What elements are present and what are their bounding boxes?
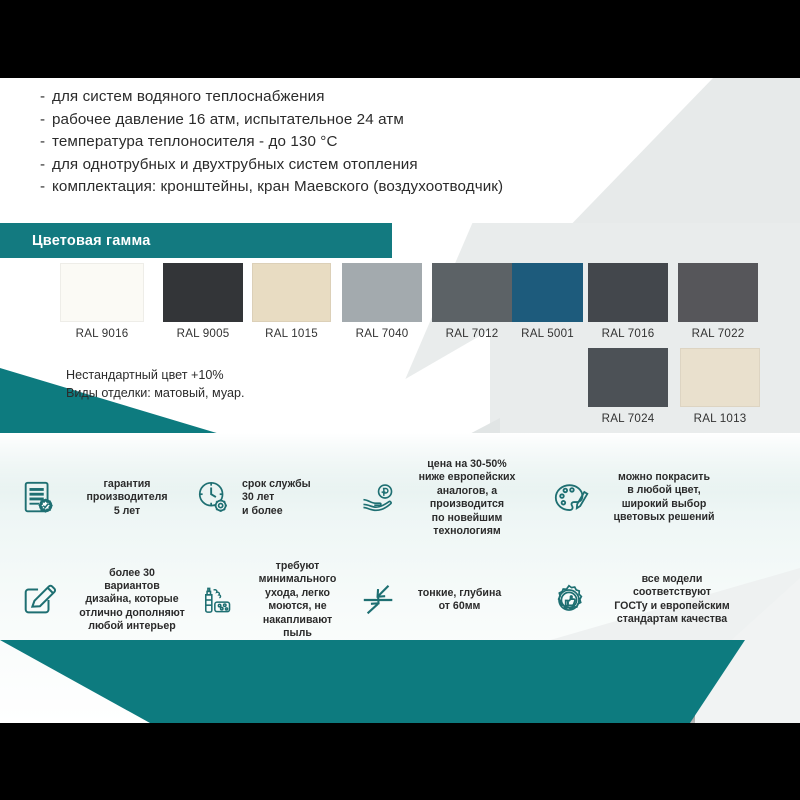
spec-item: -для однотрубных и двухтрубных систем от… [40,154,640,177]
benefit-item: тонкие, глубина от 60мм [360,581,512,619]
swatch-label: RAL 1015 [252,327,331,340]
swatch-chip[interactable] [678,263,758,322]
swatch-label: RAL 5001 [512,327,583,340]
benefit-item: можно покрасить в любой цвет, широкий вы… [552,471,729,525]
depth-arrows-icon [360,581,398,619]
spec-item-label: рабочее давление 16 атм, испытательное 2… [52,111,404,128]
spray-sponge-icon [198,581,236,619]
benefit-label: можно покрасить в любой цвет, широкий вы… [599,471,729,525]
hand-ruble-icon [360,479,398,517]
swatch-label: RAL 7016 [588,327,668,340]
color-gamma-title: Цветовая гамма [32,233,150,249]
palette-icon [552,479,590,517]
spec-item: -комплектация: кронштейны, кран Маевског… [40,176,640,199]
swatch-label: RAL 9016 [60,327,144,340]
swatch-ral-1015[interactable]: RAL 1015 [252,263,331,340]
slide-canvas: -для систем водяного теплоснабжения-рабо… [0,78,800,723]
swatch-label: RAL 7022 [678,327,758,340]
swatch-ral-7040[interactable]: RAL 7040 [342,263,422,340]
swatch-ral-9016[interactable]: RAL 9016 [60,263,144,340]
pencil-square-icon [20,581,58,619]
benefit-label: гарантия производителя 5 лет [67,478,187,518]
benefit-item: цена на 30-50% ниже европейских аналогов… [360,458,527,538]
letterbox-top [0,0,800,78]
swatch-row-primary: RAL 9016RAL 9005RAL 1015RAL 7040RAL 7012… [0,263,800,343]
benefit-item: требуют минимального ухода, легко моются… [198,560,350,640]
swatch-note: Нестандартный цвет +10% [66,366,245,384]
benefit-label: все модели соответствуют ГОСТу и европей… [597,573,747,627]
swatch-ral-7012[interactable]: RAL 7012 [432,263,512,340]
swatch-chip[interactable] [342,263,422,322]
specification-list: -для систем водяного теплоснабжения-рабо… [40,86,640,199]
swatch-ral-7024[interactable]: RAL 7024 [588,348,668,425]
swatch-chip[interactable] [163,263,243,322]
bullet-dash-icon: - [40,86,52,109]
swatch-ral-7022[interactable]: RAL 7022 [678,263,758,340]
spec-item: -для систем водяного теплоснабжения [40,86,640,109]
letterbox-bottom [0,723,800,800]
swatch-label: RAL 7040 [342,327,422,340]
swatch-ral-1013[interactable]: RAL 1013 [680,348,760,425]
benefit-label: более 30 вариантов дизайна, которые отли… [67,567,197,634]
bullet-dash-icon: - [40,154,52,177]
swatch-chip[interactable] [588,348,668,407]
clock-gear-icon [195,479,233,517]
swatch-chip[interactable] [512,263,583,322]
swatch-ral-9005[interactable]: RAL 9005 [163,263,243,340]
swatch-chip[interactable] [60,263,144,322]
spec-item-label: для однотрубных и двухтрубных систем ото… [52,156,418,173]
benefit-row-1: гарантия производителя 5 лет срок службы… [0,446,800,550]
swatch-label: RAL 7012 [432,327,512,340]
benefit-label: тонкие, глубина от 60мм [407,587,512,614]
swatch-chip[interactable] [432,263,512,322]
certificate-icon [20,479,58,517]
benefit-item: все модели соответствуют ГОСТу и европей… [550,573,747,627]
benefits-section: гарантия производителя 5 лет срок службы… [0,446,800,650]
color-gamma-header: Цветовая гамма [0,223,392,258]
swatch-label: RAL 9005 [163,327,243,340]
swatch-chip[interactable] [680,348,760,407]
bullet-dash-icon: - [40,176,52,199]
swatch-ral-7016[interactable]: RAL 7016 [588,263,668,340]
swatch-notes: Нестандартный цвет +10%Виды отделки: мат… [66,366,245,402]
benefit-label: цена на 30-50% ниже европейских аналогов… [407,458,527,538]
swatch-row-secondary: RAL 7024RAL 1013 [588,348,800,428]
spec-item: -рабочее давление 16 атм, испытательное … [40,109,640,132]
benefit-item: срок службы 30 лет и более [195,478,337,518]
bullet-dash-icon: - [40,109,52,132]
spec-item-label: комплектация: кронштейны, кран Маевского… [52,178,503,195]
bullet-dash-icon: - [40,131,52,154]
benefit-label: срок службы 30 лет и более [242,478,337,518]
swatch-chip[interactable] [588,263,668,322]
swatch-note: Виды отделки: матовый, муар. [66,384,245,402]
benefit-item: более 30 вариантов дизайна, которые отли… [20,567,197,634]
swatch-ral-5001[interactable]: RAL 5001 [512,263,583,340]
benefit-row-2: более 30 вариантов дизайна, которые отли… [0,550,800,650]
swatch-label: RAL 7024 [588,412,668,425]
spec-item-label: температура теплоносителя - до 130 °C [52,133,338,150]
spec-item-label: для систем водяного теплоснабжения [52,88,325,105]
quality-seal-icon [550,581,588,619]
slide-stage: -для систем водяного теплоснабжения-рабо… [0,0,800,800]
decor-white-triangle [300,330,490,440]
swatch-label: RAL 1013 [680,412,760,425]
swatch-chip[interactable] [252,263,331,322]
benefit-item: гарантия производителя 5 лет [20,478,187,518]
spec-item: -температура теплоносителя - до 130 °C [40,131,640,154]
benefit-label: требуют минимального ухода, легко моются… [245,560,350,640]
